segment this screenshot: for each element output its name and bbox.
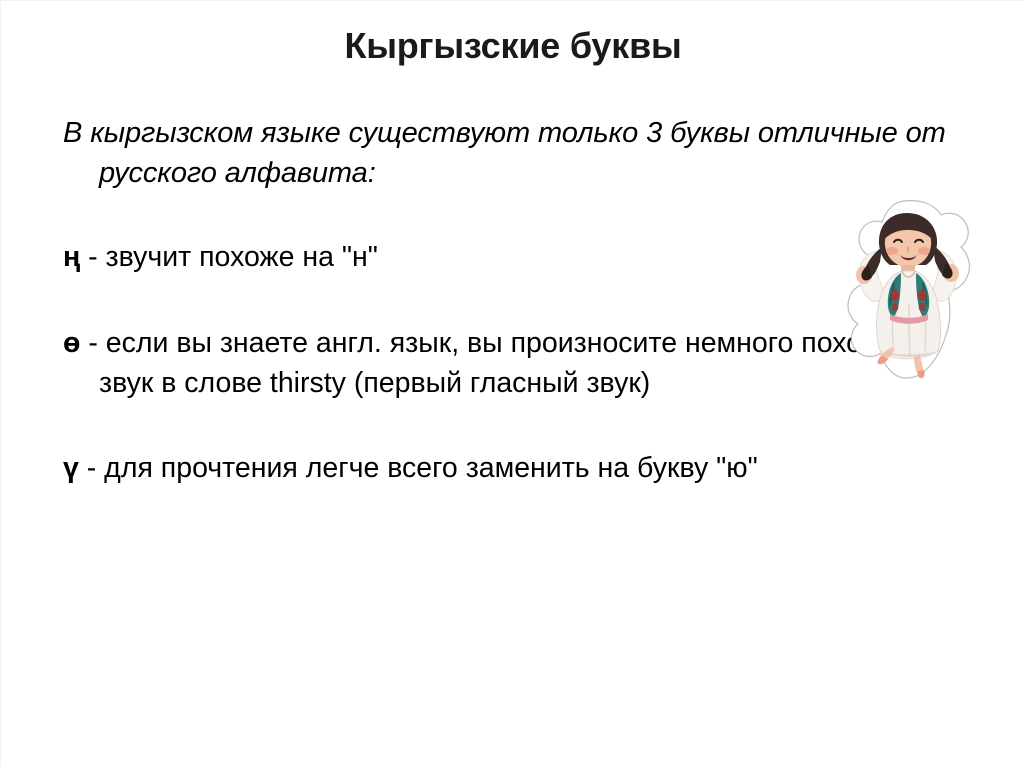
letter-item-ue: ү - для прочтения легче всего заменить н… [63,448,963,488]
intro-paragraph: В кыргызском языке существуют только 3 б… [63,113,963,193]
spacer [63,193,963,237]
letter-item-oe: ө - если вы знаете англ. язык, вы произн… [63,323,963,403]
slide-body: В кыргызском языке существуют только 3 б… [63,113,963,488]
spacer [63,277,963,323]
letter-glyph-ng: ң [63,241,80,273]
letter-description-oe: - если вы знаете англ. язык, вы произнос… [80,327,912,399]
spacer [63,403,963,448]
letter-description-ue: - для прочтения легче всего заменить на … [79,452,758,484]
letter-item-ng: ң - звучит похоже на "н" [63,237,963,277]
page-title: Кыргызские буквы [1,23,1024,68]
letter-description-ng: - звучит похоже на "н" [80,241,378,273]
letter-glyph-oe: ө [63,327,80,359]
kyrgyz-girl-sticker-icon [834,199,984,381]
slide: Кыргызские буквы В кыргызском языке суще… [0,0,1024,767]
letter-glyph-ue: ү [63,452,79,484]
